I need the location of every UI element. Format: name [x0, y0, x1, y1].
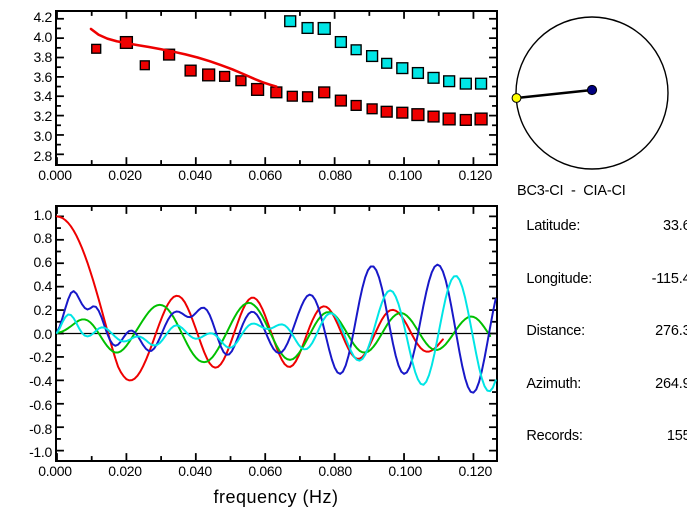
- info-value-azimuth: 264.99: [610, 376, 687, 394]
- info-value-records: 1559: [610, 428, 687, 446]
- y-tick-label: -0.4: [2, 373, 52, 389]
- info-value-longitude: -115.45: [610, 271, 687, 289]
- info-label-records: Records:: [526, 428, 610, 446]
- y-tick-label: 4.2: [2, 9, 52, 25]
- info-label-longitude: Longitude:: [526, 271, 610, 289]
- x-tick-label: 0.080: [305, 167, 365, 183]
- x-tick-label: 0.020: [95, 463, 155, 479]
- y-tick-label: 3.2: [2, 108, 52, 124]
- y-tick-label: 0.4: [2, 278, 52, 294]
- y-tick-label: 3.6: [2, 69, 52, 85]
- x-tick-label: 0.000: [25, 463, 85, 479]
- station-pair-map-svg: [503, 8, 683, 178]
- info-row-latitude: Latitude:33.65: [511, 201, 687, 254]
- x-tick-label: 0.080: [305, 463, 365, 479]
- great-circle-path: [517, 90, 593, 98]
- cross-correlation-canvas: [57, 207, 496, 460]
- cross-correlation-plot: [55, 205, 498, 462]
- y-tick-label: 0.6: [2, 254, 52, 270]
- receiver-dot: [587, 85, 596, 94]
- y-tick-label: -0.8: [2, 421, 52, 437]
- phase-velocity-plot: [55, 10, 498, 166]
- source-dot: [512, 94, 521, 103]
- station-pair-map: [503, 8, 683, 178]
- y-tick-label: 3.8: [2, 49, 52, 65]
- y-tick-label: -1.0: [2, 444, 52, 460]
- info-row-longitude: Longitude:-115.45: [511, 253, 687, 306]
- station-pair-title: BC3-CI - CIA-CI: [511, 183, 687, 201]
- y-tick-label: 1.0: [2, 207, 52, 223]
- y-tick-label: -0.6: [2, 397, 52, 413]
- y-tick-label: 3.0: [2, 128, 52, 144]
- info-row-distance: Distance:276.35: [511, 306, 687, 359]
- info-row-records: Records:1559: [511, 411, 687, 464]
- x-tick-label: 0.120: [445, 167, 505, 183]
- y-tick-label: 4.0: [2, 29, 52, 45]
- x-tick-label: 0.020: [95, 167, 155, 183]
- y-tick-label: -0.2: [2, 349, 52, 365]
- y-tick-label: 0.2: [2, 302, 52, 318]
- x-tick-label: 0.060: [235, 167, 295, 183]
- y-tick-label: 0.8: [2, 230, 52, 246]
- x-tick-label: 0.120: [445, 463, 505, 479]
- x-tick-label: 0.000: [25, 167, 85, 183]
- x-tick-label: 0.100: [375, 167, 435, 183]
- y-tick-label: 0.0: [2, 326, 52, 342]
- x-tick-label: 0.040: [165, 463, 225, 479]
- x-tick-label: 0.040: [165, 167, 225, 183]
- phase-velocity-canvas: [57, 12, 496, 164]
- y-tick-label: 2.8: [2, 148, 52, 164]
- info-label-azimuth: Azimuth:: [526, 376, 610, 394]
- station-pair-info: BC3-CI - CIA-CI Latitude:33.65 Longitude…: [511, 183, 687, 463]
- x-axis-title: frequency (Hz): [116, 487, 436, 508]
- info-label-latitude: Latitude:: [526, 218, 610, 236]
- x-tick-label: 0.100: [375, 463, 435, 479]
- info-value-distance: 276.35: [610, 323, 687, 341]
- y-tick-label: 3.4: [2, 88, 52, 104]
- info-value-latitude: 33.65: [610, 218, 687, 236]
- info-label-distance: Distance:: [526, 323, 610, 341]
- info-row-azimuth: Azimuth:264.99: [511, 358, 687, 411]
- x-tick-label: 0.060: [235, 463, 295, 479]
